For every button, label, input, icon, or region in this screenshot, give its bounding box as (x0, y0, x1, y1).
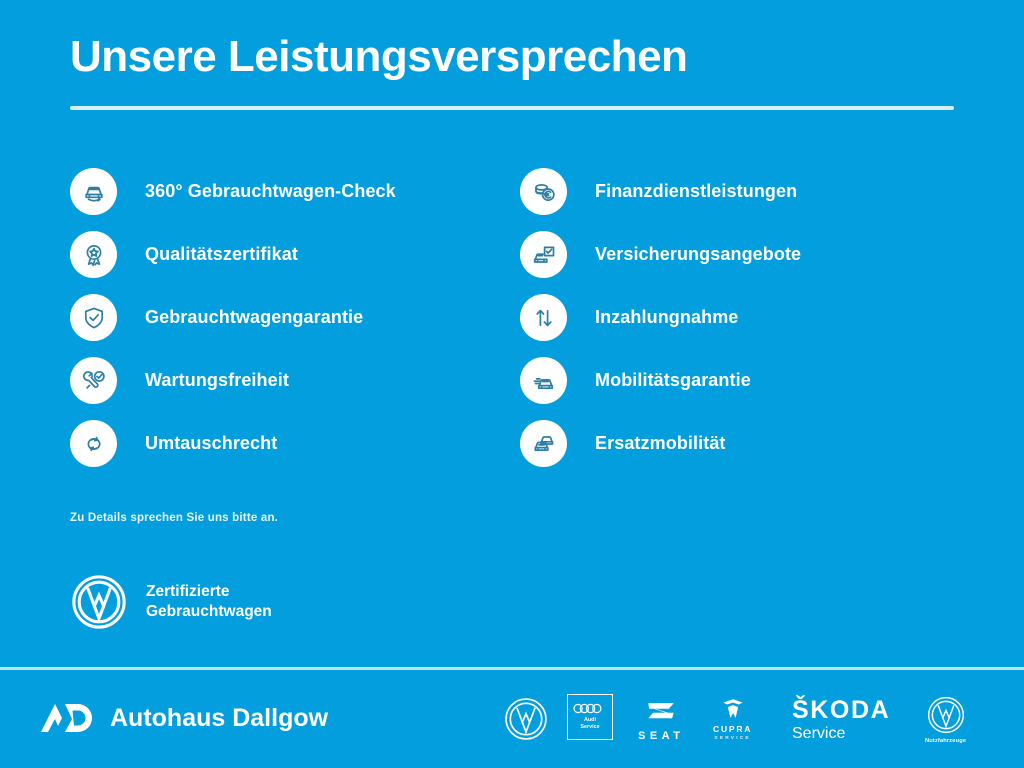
benefit-label: Finanzdienstleistungen (595, 181, 797, 202)
seat-s-icon (645, 700, 677, 727)
benefit-item: 360° Gebrauchtwagen-Check (70, 160, 520, 223)
skoda-word: ŠKODA (792, 698, 890, 723)
dealer-branding: Autohaus Dallgow (38, 698, 328, 738)
cupra-tribal-icon (720, 698, 746, 720)
certified-used-cars-block: Zertifizierte Gebrauchtwagen (70, 573, 272, 631)
audi-word: Audi (584, 717, 596, 723)
footer-divider (0, 667, 1024, 670)
up-down-arrows-icon (520, 294, 567, 341)
benefit-item: Versicherungsangebote (520, 223, 970, 286)
seat-logo: SEAT (638, 700, 685, 742)
title-divider (70, 106, 954, 110)
skoda-service-logo: ŠKODA Service (792, 698, 890, 743)
benefit-label: Gebrauchtwagengarantie (145, 307, 363, 328)
audi-service-logo: Audi Service (567, 694, 613, 740)
audi-logo-box: Audi Service (567, 694, 613, 740)
certified-line-2: Gebrauchtwagen (146, 602, 272, 622)
benefit-item: Inzahlungnahme (520, 286, 970, 349)
benefits-column-left: 360° Gebrauchtwagen-Check Qualitätszerti… (70, 160, 520, 475)
dealer-name: Autohaus Dallgow (110, 704, 328, 733)
benefit-item: Mobilitätsgarantie (520, 349, 970, 412)
benefits-grid: 360° Gebrauchtwagen-Check Qualitätszerti… (70, 160, 970, 475)
vw-logo (70, 573, 128, 631)
vw-nutzfahrzeuge-logo: Nutzfahrzeuge (925, 695, 966, 744)
benefit-item: Gebrauchtwagengarantie (70, 286, 520, 349)
benefit-item: Ersatzmobilität (520, 412, 970, 475)
benefit-label: Ersatzmobilität (595, 433, 726, 454)
benefit-item: Finanzdienstleistungen (520, 160, 970, 223)
benefit-label: Mobilitätsgarantie (595, 370, 751, 391)
wrench-check-icon (70, 357, 117, 404)
page-title: Unsere Leistungsversprechen (70, 34, 954, 80)
car-360-check-icon (70, 168, 117, 215)
certified-line-1: Zertifizierte (146, 582, 272, 602)
vw-logo (503, 696, 549, 742)
car-speed-icon (520, 357, 567, 404)
brand-logos: Audi Service SEAT CUPRA SERVICE ŠKODA Se… (495, 690, 1015, 752)
exchange-arrows-icon (70, 420, 117, 467)
cupra-service-word: SERVICE (714, 736, 750, 741)
benefit-item: Wartungsfreiheit (70, 349, 520, 412)
benefit-label: Versicherungsangebote (595, 244, 801, 265)
car-insurance-check-icon (520, 231, 567, 278)
certified-label: Zertifizierte Gebrauchtwagen (146, 582, 272, 622)
details-note: Zu Details sprechen Sie uns bitte an. (70, 512, 278, 524)
benefit-label: Umtauschrecht (145, 433, 277, 454)
cupra-word: CUPRA (713, 724, 752, 734)
ad-monogram-logo (38, 698, 96, 738)
vw-nutzfahrzeuge-caption: Nutzfahrzeuge (925, 738, 966, 744)
shield-check-icon (70, 294, 117, 341)
audi-rings-icon (573, 703, 607, 714)
coins-euro-icon (520, 168, 567, 215)
benefit-item: Qualitätszertifikat (70, 223, 520, 286)
benefit-item: Umtauschrecht (70, 412, 520, 475)
seat-word: SEAT (638, 730, 685, 742)
skoda-service-word: Service (792, 725, 845, 743)
audi-service-caption: Audi Service (580, 717, 599, 731)
benefit-label: 360° Gebrauchtwagen-Check (145, 181, 396, 202)
vw-logo (926, 695, 966, 735)
cupra-service-logo: CUPRA SERVICE (713, 698, 752, 741)
benefit-label: Qualitätszertifikat (145, 244, 298, 265)
header: Unsere Leistungsversprechen (70, 34, 954, 110)
benefit-label: Inzahlungnahme (595, 307, 738, 328)
benefits-column-right: Finanzdienstleistungen Versicherungsange… (520, 160, 970, 475)
audi-service-word: Service (580, 724, 599, 730)
benefit-label: Wartungsfreiheit (145, 370, 289, 391)
two-cars-icon (520, 420, 567, 467)
brochure-slide: Unsere Leistungsversprechen (0, 0, 1024, 768)
award-rosette-icon (70, 231, 117, 278)
